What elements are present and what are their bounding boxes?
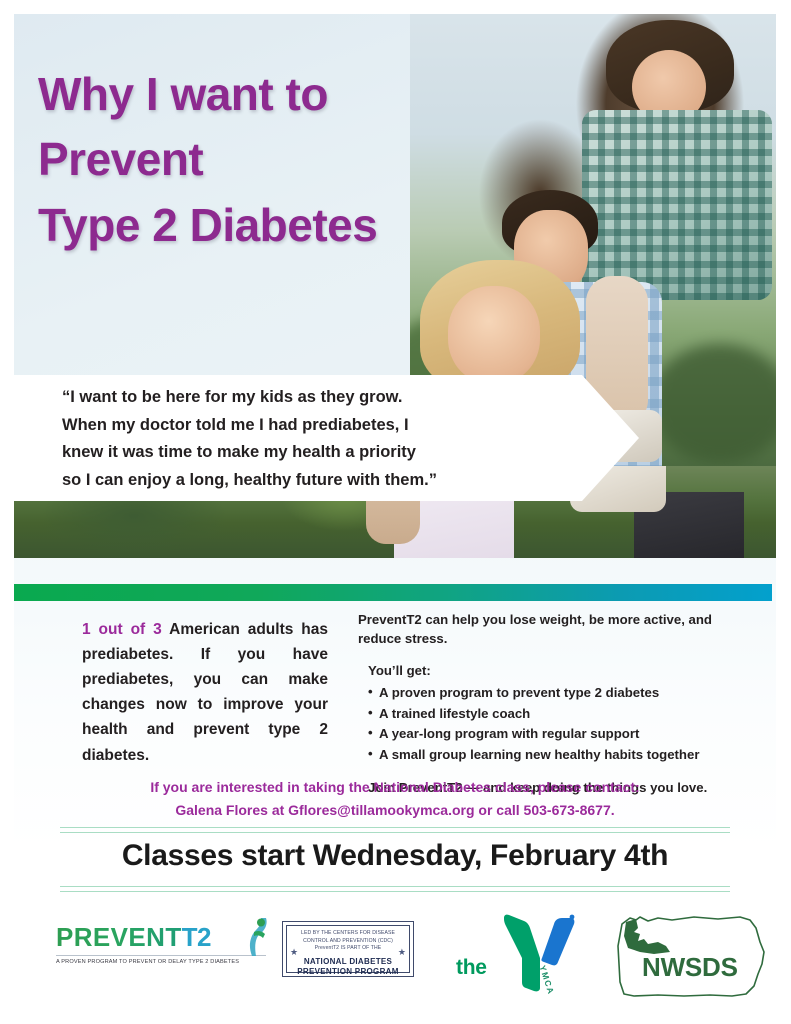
ymca-logo: the YMCA (446, 912, 596, 994)
poster-sheet: Why I want to Prevent Type 2 Diabetes “I… (14, 14, 776, 1010)
headline-line-3: Type 2 Diabetes (38, 193, 458, 258)
cdc-big-line-1: NATIONAL DIABETES (287, 957, 409, 968)
cdc-program-name: NATIONAL DIABETES PREVENTION PROGRAM (287, 957, 409, 979)
nwsds-wordmark: NWSDS (642, 952, 738, 983)
contact-block: If you are interested in taking the Nati… (14, 776, 776, 821)
list-item: A small group learning new healthy habit… (368, 745, 758, 766)
right-column-intro: PreventT2 can help you lose weight, be m… (358, 611, 758, 648)
preventt2-prevent-text: PREVENT (56, 922, 182, 952)
quote-text: “I want to be here for my kids as they g… (62, 384, 582, 495)
ymca-the-text: the (456, 956, 487, 980)
star-icon: ★ (398, 948, 406, 957)
page-title: Why I want to Prevent Type 2 Diabetes (38, 62, 458, 258)
quote-line-3: knew it was time to make my health a pri… (62, 439, 582, 467)
divider-rule-bottom (60, 886, 730, 892)
running-figure-icon (244, 918, 270, 958)
stat-highlight: 1 out of 3 (82, 621, 162, 638)
preventt2-wordmark: PREVENTT2 (56, 924, 266, 950)
foliage-blob (650, 344, 776, 464)
footer-logos: PREVENTT2 A PROVEN PROGRAM TO PREVENT OR… (14, 904, 776, 1010)
hero-section: Why I want to Prevent Type 2 Diabetes “I… (14, 14, 776, 558)
contact-line-2[interactable]: Galena Flores at Gflores@tillamookymca.o… (14, 799, 776, 822)
cdc-small-line-1: LED BY THE CENTERS FOR DISEASE (287, 930, 409, 938)
right-column-text: PreventT2 can help you lose weight, be m… (358, 611, 758, 797)
nwsds-logo: NWSDS (614, 908, 770, 1002)
headline-line-1: Why I want to (38, 62, 458, 127)
star-icon: ★ (290, 948, 298, 957)
body-columns: 1 out of 3 American adults has prediabet… (14, 611, 776, 771)
person-mom-face (448, 286, 540, 384)
list-item: A year-long program with regular support (368, 724, 758, 745)
cdc-badge: ★ ★ LED BY THE CENTERS FOR DISEASE CONTR… (282, 921, 414, 977)
contact-line-1: If you are interested in taking the Nati… (14, 776, 776, 799)
person-boy-top-shirt (582, 110, 772, 300)
poster-page: Why I want to Prevent Type 2 Diabetes “I… (0, 0, 791, 1024)
left-column-body: American adults has prediabetes. If you … (82, 621, 328, 764)
preventt2-tagline: A PROVEN PROGRAM TO PREVENT OR DELAY TYP… (56, 955, 266, 965)
preventt2-logo: PREVENTT2 A PROVEN PROGRAM TO PREVENT OR… (56, 924, 266, 965)
cdc-big-line-2: PREVENTION PROGRAM (287, 967, 409, 978)
headline-line-2: Prevent (38, 127, 458, 192)
classes-start-banner: Classes start Wednesday, February 4th (14, 839, 776, 873)
preventt2-t2-text: T2 (182, 922, 211, 952)
list-item: A proven program to prevent type 2 diabe… (368, 683, 758, 704)
cdc-small-line-2: CONTROL AND PREVENTION (CDC) (287, 938, 409, 946)
quote-callout: “I want to be here for my kids as they g… (14, 375, 639, 501)
divider-rule-top (60, 827, 730, 833)
quote-line-2: When my doctor told me I had prediabetes… (62, 412, 582, 440)
list-item: A trained lifestyle coach (368, 704, 758, 725)
ymca-y-icon (502, 914, 576, 992)
left-column-text: 1 out of 3 American adults has prediabet… (82, 617, 328, 768)
cdc-small-text: LED BY THE CENTERS FOR DISEASE CONTROL A… (287, 930, 409, 953)
benefits-subhead: You’ll get: (368, 662, 758, 681)
quote-line-1: “I want to be here for my kids as they g… (62, 384, 582, 412)
cdc-small-line-3: PreventT2 IS PART OF THE (287, 945, 409, 953)
benefits-list: A proven program to prevent type 2 diabe… (358, 683, 758, 765)
gradient-divider-bar (14, 584, 772, 601)
quote-line-4: so I can enjoy a long, healthy future wi… (62, 467, 582, 495)
cdc-badge-inner: ★ ★ LED BY THE CENTERS FOR DISEASE CONTR… (286, 925, 410, 973)
